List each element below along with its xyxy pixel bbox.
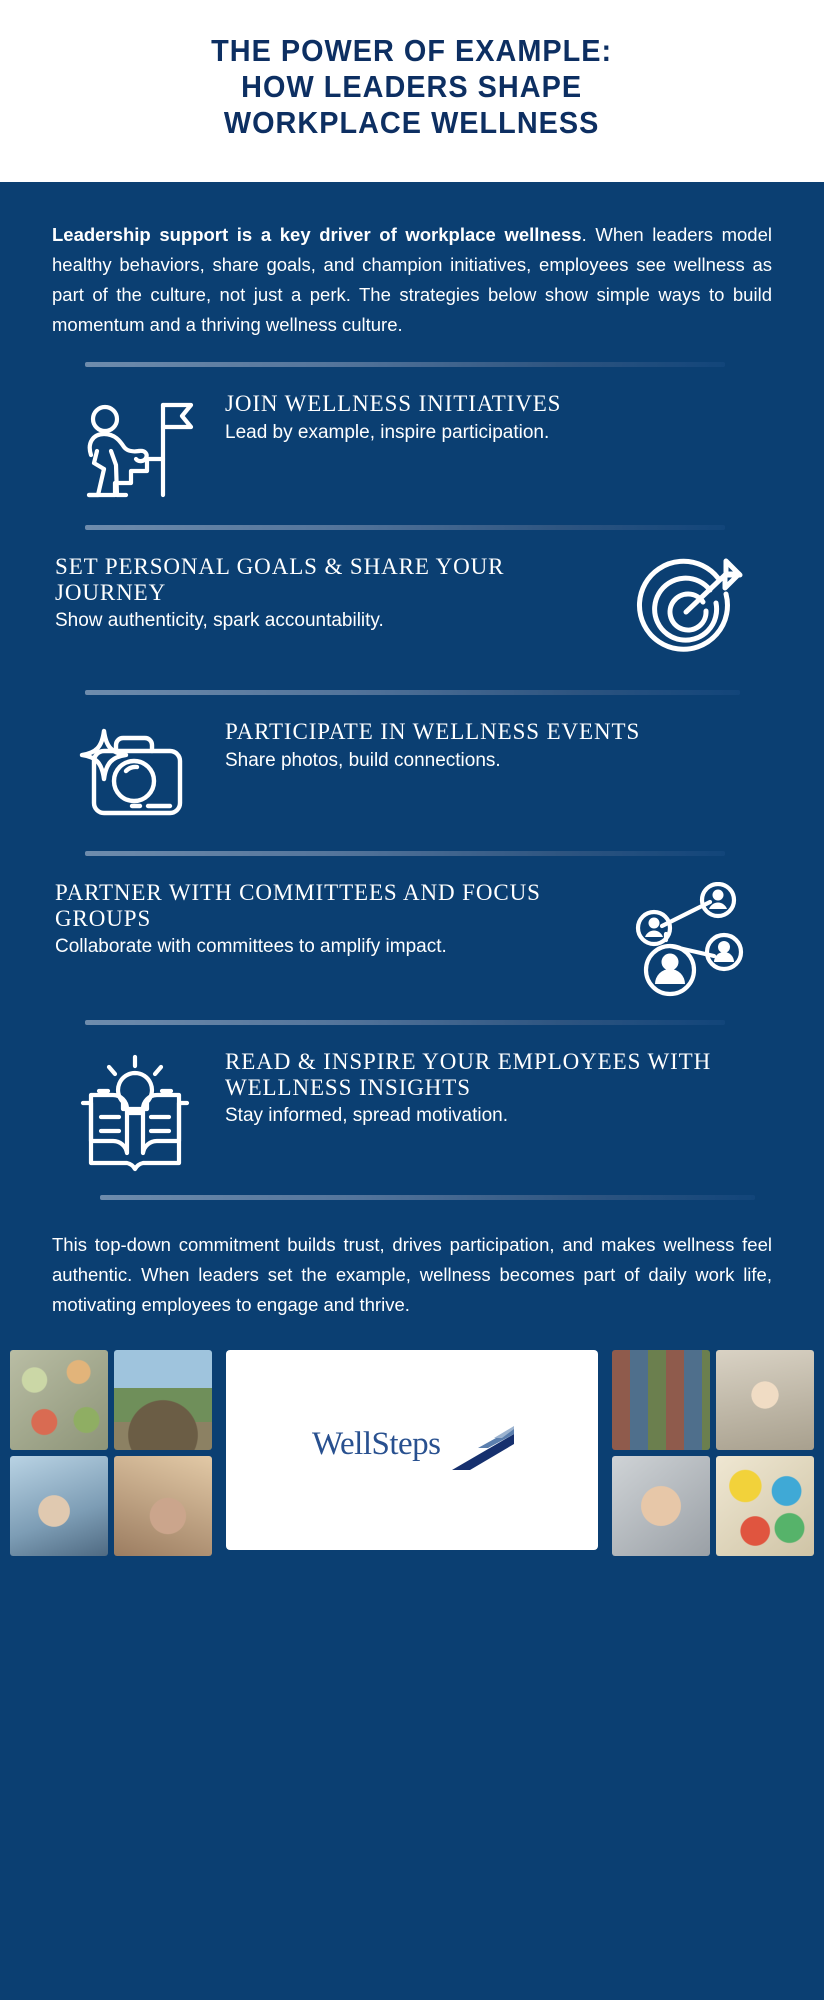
list-item: JOIN WELLNESS INITIATIVES Lead by exampl… (0, 367, 824, 525)
camera-sparkle-icon (55, 717, 215, 829)
person-climbing-stairs-to-flag-icon (55, 389, 215, 503)
list-item-desc: Share photos, build connections. (225, 748, 769, 775)
page-title: THE POWER OF EXAMPLE: HOW LEADERS SHAPE … (211, 33, 612, 142)
list-item-text: PARTICIPATE IN WELLNESS EVENTS Share pho… (225, 717, 769, 775)
photo-column-right (612, 1350, 710, 1556)
list-item-desc: Show authenticity, spark accountability. (55, 608, 599, 635)
page-title-line-3: WORKPLACE WELLNESS (224, 105, 600, 140)
body: Leadership support is a key driver of wo… (0, 182, 824, 1560)
list-item-text: READ & INSPIRE YOUR EMPLOYEES WITH WELLN… (225, 1047, 769, 1130)
woman-meditating-photo (716, 1350, 814, 1450)
logo-steps-text: Steps (372, 1426, 441, 1462)
photo-collage: WellSteps (0, 1346, 824, 1560)
strategy-list: JOIN WELLNESS INITIATIVES Lead by exampl… (0, 350, 824, 1200)
list-item-text: PARTNER WITH COMMITTEES AND FOCUS GROUPS… (55, 878, 599, 961)
list-item-title: READ & INSPIRE YOUR EMPLOYEES WITH WELLN… (225, 1049, 769, 1101)
photo-column-right-2 (716, 1350, 814, 1556)
team-hands-together-photo (612, 1456, 710, 1556)
list-item-desc: Lead by example, inspire participation. (225, 420, 769, 447)
infographic-page: THE POWER OF EXAMPLE: HOW LEADERS SHAPE … (0, 0, 824, 2000)
woman-yoga-stretch-photo (10, 1456, 108, 1556)
women-exercising-mats-photo (114, 1456, 212, 1556)
list-item: PARTNER WITH COMMITTEES AND FOCUS GROUPS… (0, 856, 824, 1020)
header: THE POWER OF EXAMPLE: HOW LEADERS SHAPE … (0, 0, 824, 182)
target-dart-icon (609, 552, 769, 668)
page-title-line-2: HOW LEADERS SHAPE (242, 69, 583, 104)
photo-column-left (10, 1350, 108, 1556)
open-book-lightbulb-icon (55, 1047, 215, 1173)
page-title-line-1: THE POWER OF EXAMPLE: (211, 33, 612, 68)
list-item-title: PARTNER WITH COMMITTEES AND FOCUS GROUPS (55, 880, 599, 932)
list-item-desc: Stay informed, spread motivation. (225, 1103, 769, 1130)
list-item: READ & INSPIRE YOUR EMPLOYEES WITH WELLN… (0, 1025, 824, 1195)
colorful-wellness-flatlay-photo (716, 1456, 814, 1556)
healthy-food-bowls-photo (10, 1350, 108, 1450)
photo-column-left-2 (114, 1350, 212, 1556)
logo-well-text: Well (312, 1426, 372, 1462)
closing-paragraph: This top-down commitment builds trust, d… (0, 1200, 824, 1346)
people-network-icon (609, 878, 769, 998)
list-item: PARTICIPATE IN WELLNESS EVENTS Share pho… (0, 695, 824, 851)
wellsteps-logo: WellSteps (226, 1350, 598, 1550)
list-item-title: PARTICIPATE IN WELLNESS EVENTS (225, 719, 769, 745)
list-item-text: JOIN WELLNESS INITIATIVES Lead by exampl… (225, 389, 769, 447)
list-item-title: SET PERSONAL GOALS & SHARE YOUR JOURNEY (55, 554, 599, 606)
intro-paragraph: Leadership support is a key driver of wo… (0, 182, 824, 350)
list-item-text: SET PERSONAL GOALS & SHARE YOUR JOURNEY … (55, 552, 599, 635)
logo-swoosh-icon (448, 1426, 518, 1474)
list-item-desc: Collaborate with committees to amplify i… (55, 934, 599, 961)
intro-lead: Leadership support is a key driver of wo… (52, 224, 582, 245)
list-item: SET PERSONAL GOALS & SHARE YOUR JOURNEY … (0, 530, 824, 690)
group-running-outdoors-photo (114, 1350, 212, 1450)
list-item-title: JOIN WELLNESS INITIATIVES (225, 391, 769, 417)
group-fitness-class-photo (612, 1350, 710, 1450)
